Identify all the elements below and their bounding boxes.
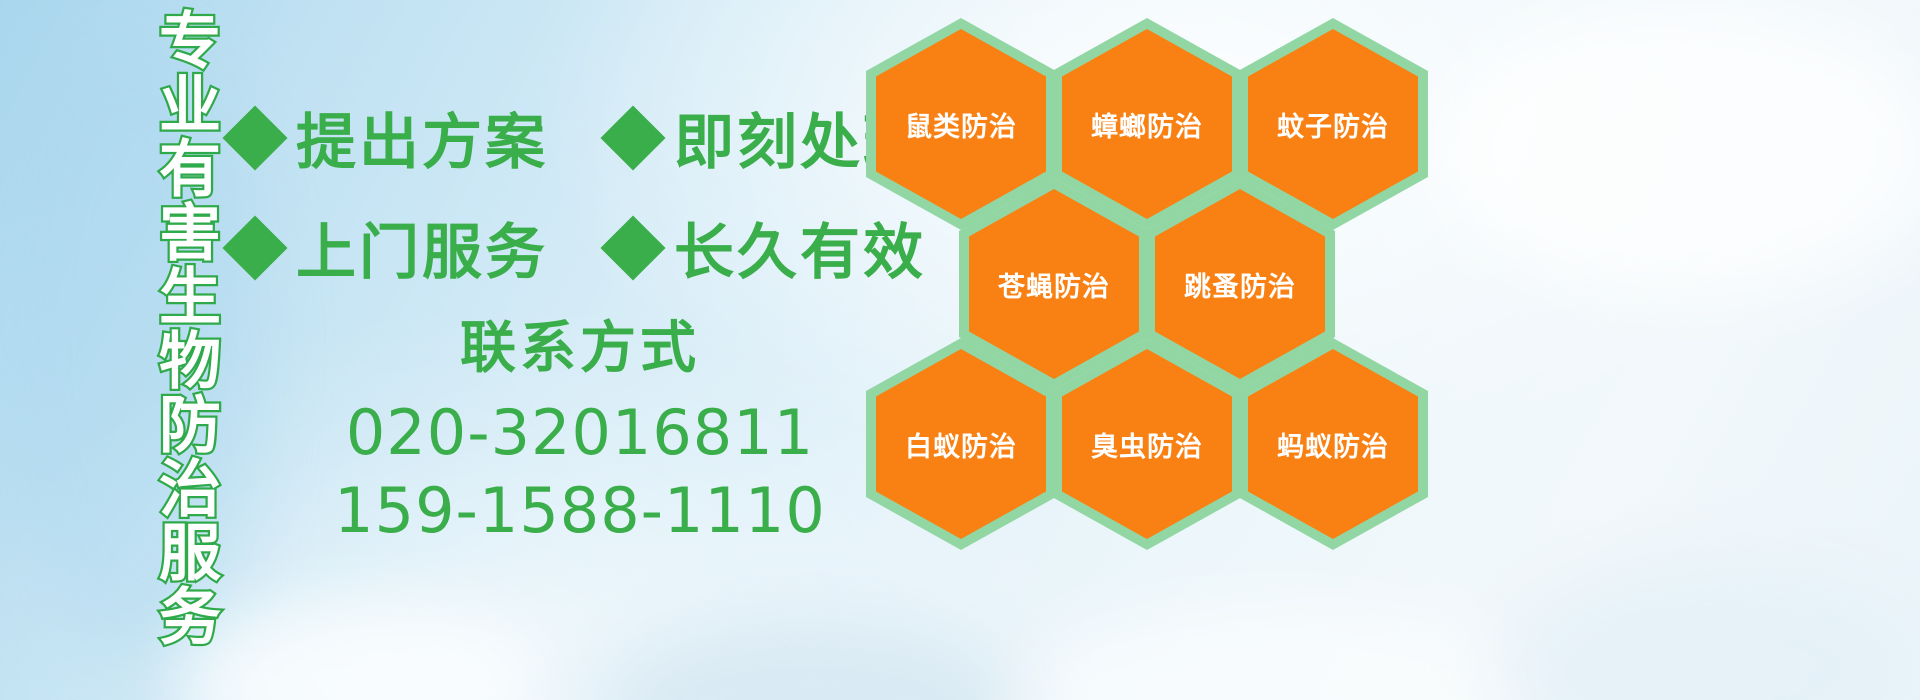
hex-inner: 鼠类防治 bbox=[876, 29, 1046, 219]
background-blob-bottom-4 bbox=[1500, 560, 1920, 700]
hex-inner: 跳蚤防治 bbox=[1155, 189, 1325, 379]
hex-inner: 苍蝇防治 bbox=[969, 189, 1139, 379]
background-blob-bottom-3 bbox=[1020, 600, 1540, 700]
service-honeycomb: 鼠类防治 蟑螂防治 蚊子防治 苍蝇防治 跳蚤防治 白蚁防治 bbox=[862, 4, 1462, 564]
contact-phone-landline[interactable]: 020-32016811 bbox=[300, 394, 860, 472]
hex-label: 苍蝇防治 bbox=[998, 265, 1110, 304]
vertical-headline: 专业有害生物防治服务 bbox=[104, 8, 216, 568]
contact-block: 联系方式 020-32016811 159-1588-1110 bbox=[300, 318, 860, 550]
contact-phone-mobile[interactable]: 159-1588-1110 bbox=[300, 472, 860, 550]
background-blob-top-right bbox=[1430, 0, 1920, 300]
feature-row-2: 上门服务 长久有效 bbox=[232, 204, 926, 291]
hex-label: 蟑螂防治 bbox=[1091, 105, 1203, 144]
background-blob-bottom-2 bbox=[600, 620, 1020, 700]
pest-control-banner: 专业有害生物防治服务 提出方案 即刻处理 上门服务 长久有效 联系方式 020-… bbox=[0, 0, 1920, 700]
hex-label: 臭虫防治 bbox=[1091, 425, 1203, 464]
contact-heading: 联系方式 bbox=[300, 318, 860, 380]
hex-inner: 蚊子防治 bbox=[1248, 29, 1418, 219]
hex-label: 鼠类防治 bbox=[905, 105, 1017, 144]
hex-label: 跳蚤防治 bbox=[1184, 265, 1296, 304]
hex-inner: 白蚁防治 bbox=[876, 349, 1046, 539]
feature-label: 上门服务 bbox=[296, 204, 548, 291]
diamond-bullet-icon bbox=[222, 105, 287, 170]
hex-label: 蚂蚁防治 bbox=[1277, 425, 1389, 464]
diamond-bullet-icon bbox=[600, 215, 665, 280]
hex-inner: 臭虫防治 bbox=[1062, 349, 1232, 539]
feature-row-1: 提出方案 即刻处理 bbox=[232, 94, 926, 181]
background-blob-bottom-1 bbox=[180, 600, 540, 700]
hex-inner: 蚂蚁防治 bbox=[1248, 349, 1418, 539]
feature-item-door-to-door-service: 上门服务 bbox=[232, 204, 548, 291]
feature-label: 提出方案 bbox=[296, 94, 548, 181]
hex-label: 蚊子防治 bbox=[1277, 105, 1389, 144]
hex-inner: 蟑螂防治 bbox=[1062, 29, 1232, 219]
diamond-bullet-icon bbox=[600, 105, 665, 170]
hex-label: 白蚁防治 bbox=[905, 425, 1017, 464]
diamond-bullet-icon bbox=[222, 215, 287, 280]
feature-item-propose-plan: 提出方案 bbox=[232, 94, 548, 181]
